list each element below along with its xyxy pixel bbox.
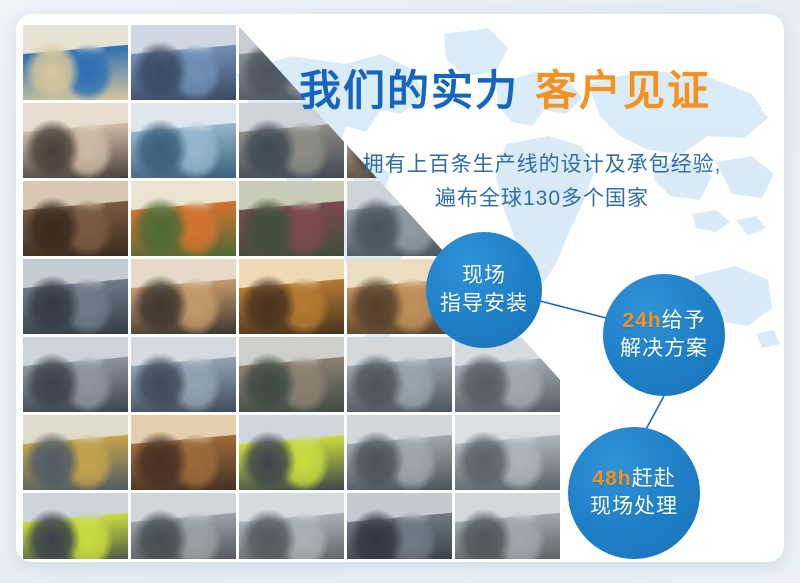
headline-blue: 我们的实力 <box>299 67 519 114</box>
bubble-2-line-2: 解决方案 <box>620 335 708 363</box>
photo-team-photo-workshop <box>455 493 560 562</box>
photo-visitors-machine-tour <box>347 415 452 490</box>
photo-row <box>23 493 583 562</box>
content-card: 我们的实力客户见证 拥有上百条生产线的设计及承包经验, 遍布全球130多个国家 … <box>16 14 784 562</box>
bubble-24h-solution[interactable]: 24h给予 解决方案 <box>603 274 725 396</box>
photo-worker-group-blue-tower-site <box>131 25 236 100</box>
bubble-1-line-1: 现场 <box>462 262 506 290</box>
photo-group-outdoor-delegation <box>131 337 236 412</box>
bubble-3-line-1-text: 赶赴 <box>632 467 676 490</box>
photo-two-workers-red-hardhat-plant <box>239 337 344 412</box>
subtitle-line-1: 拥有上百条生产线的设计及承包经验, <box>316 148 768 182</box>
photo-row <box>23 415 583 490</box>
photo-three-people-factory-hardhats <box>23 259 128 334</box>
photo-three-men-standing-workshop <box>23 337 128 412</box>
bubble-2-highlight: 24h <box>622 309 661 332</box>
photo-staff-group-plant <box>455 415 560 490</box>
bubble-2-line-1: 24h给予 <box>622 307 705 335</box>
photo-three-men-smiling-indoor <box>131 103 236 178</box>
subtitle-line-2: 遍布全球130多个国家 <box>316 182 768 216</box>
bubble-48h-onsite[interactable]: 48h赶赴 现场处理 <box>568 427 700 559</box>
bubble-on-site-installation[interactable]: 现场 指导安装 <box>426 232 542 348</box>
subtitle: 拥有上百条生产线的设计及承包经验, 遍布全球130多个国家 <box>316 148 768 216</box>
bubble-3-highlight: 48h <box>592 467 631 490</box>
page-title: 我们的实力客户见证 <box>299 70 769 112</box>
photo-vip-vest-group-briefing <box>23 493 128 562</box>
headline-orange: 客户见证 <box>535 67 711 114</box>
banner-stage: 我们的实力客户见证 拥有上百条生产线的设计及承包经验, 遍布全球130多个国家 … <box>0 0 800 583</box>
photo-two-men-hardhats-corridor <box>131 493 236 562</box>
photo-two-men-warehouse <box>347 337 452 412</box>
photo-business-handshake-desk <box>131 259 236 334</box>
bubble-2-line-1-text: 给予 <box>662 309 706 332</box>
bubble-3-line-1: 48h赶赴 <box>592 465 675 493</box>
photo-three-professionals-portrait <box>347 493 452 562</box>
photo-conference-table-meeting <box>23 181 128 256</box>
photo-row <box>23 337 583 412</box>
photo-handshake-hardhats-award <box>131 181 236 256</box>
photo-handshake-wooden-hall <box>131 415 236 490</box>
bubble-3-line-2: 现场处理 <box>590 493 678 521</box>
photo-site-visit-pair <box>455 337 560 412</box>
photo-technician-white-coat-machine <box>239 493 344 562</box>
photo-vip-vests-machine-inspection <box>239 415 344 490</box>
photo-two-engineers-hardhats-yellow-gear <box>23 25 128 100</box>
photo-workers-yellow-hardhats-line <box>23 415 128 490</box>
photo-banquet-guests-celebration <box>239 259 344 334</box>
photo-three-men-handshake-office <box>23 103 128 178</box>
connector-1-2 <box>540 301 610 319</box>
bubble-1-line-2: 指导安装 <box>440 290 528 318</box>
